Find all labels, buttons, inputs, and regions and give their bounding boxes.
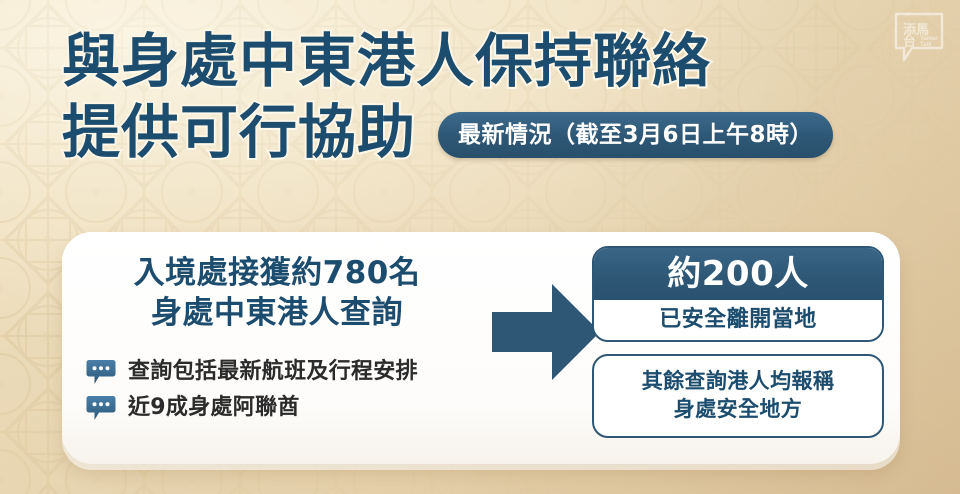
list-item-label: 近9成身處阿聯酋 — [128, 397, 300, 419]
headline-block: 與身處中東港人保持聯絡 提供可行協助 最新情況（截至3月6日上午8時） — [62, 26, 922, 168]
list-item-label: 查詢包括最新航班及行程安排 — [128, 361, 418, 383]
infographic-poster: 添馬 台 Tamar Talk 與身處中東港人保持聯絡 提供可行協助 最新情況（… — [0, 0, 960, 494]
date-badge-label: 最新情況（截至3月6日上午8時） — [458, 124, 813, 147]
stat-subline: 已安全離開當地 — [659, 309, 817, 331]
card-right-block: 約200人 已安全離開當地 其餘查詢港人均報稱 身處安全地方 — [592, 246, 884, 438]
note-line-2: 身處安全地方 — [604, 396, 872, 424]
date-badge: 最新情況（截至3月6日上午8時） — [438, 112, 833, 158]
lead-line-1: 入境處接獲約780名 — [62, 254, 492, 294]
stat-headline-band: 約200人 — [594, 248, 882, 300]
list-item: 查詢包括最新航班及行程安排 — [86, 354, 486, 390]
bullet-list: 查詢包括最新航班及行程安排 — [86, 354, 486, 426]
headline-line-1: 與身處中東港人保持聯絡 — [62, 26, 922, 97]
lead-line-2: 身處中東港人查詢 — [62, 294, 492, 334]
speech-bubble-icon — [86, 395, 116, 421]
stat-subline-band: 已安全離開當地 — [594, 300, 882, 340]
headline-line-2: 提供可行協助 — [62, 97, 416, 168]
headline-row-2: 提供可行協助 最新情況（截至3月6日上午8時） — [62, 97, 922, 168]
right-arrow-icon — [492, 284, 600, 380]
note-box-safe: 其餘查詢港人均報稱 身處安全地方 — [592, 354, 884, 438]
content-card: 入境處接獲約780名 身處中東港人查詢 — [62, 232, 900, 464]
note-line-1: 其餘查詢港人均報稱 — [604, 368, 872, 396]
stat-headline: 約200人 — [667, 257, 808, 291]
list-item: 近9成身處阿聯酋 — [86, 390, 486, 426]
stat-box-departed: 約200人 已安全離開當地 — [592, 246, 884, 342]
card-left-block: 入境處接獲約780名 身處中東港人查詢 — [62, 232, 492, 464]
speech-bubble-icon — [86, 359, 116, 385]
lead-statement: 入境處接獲約780名 身處中東港人查詢 — [62, 254, 492, 333]
